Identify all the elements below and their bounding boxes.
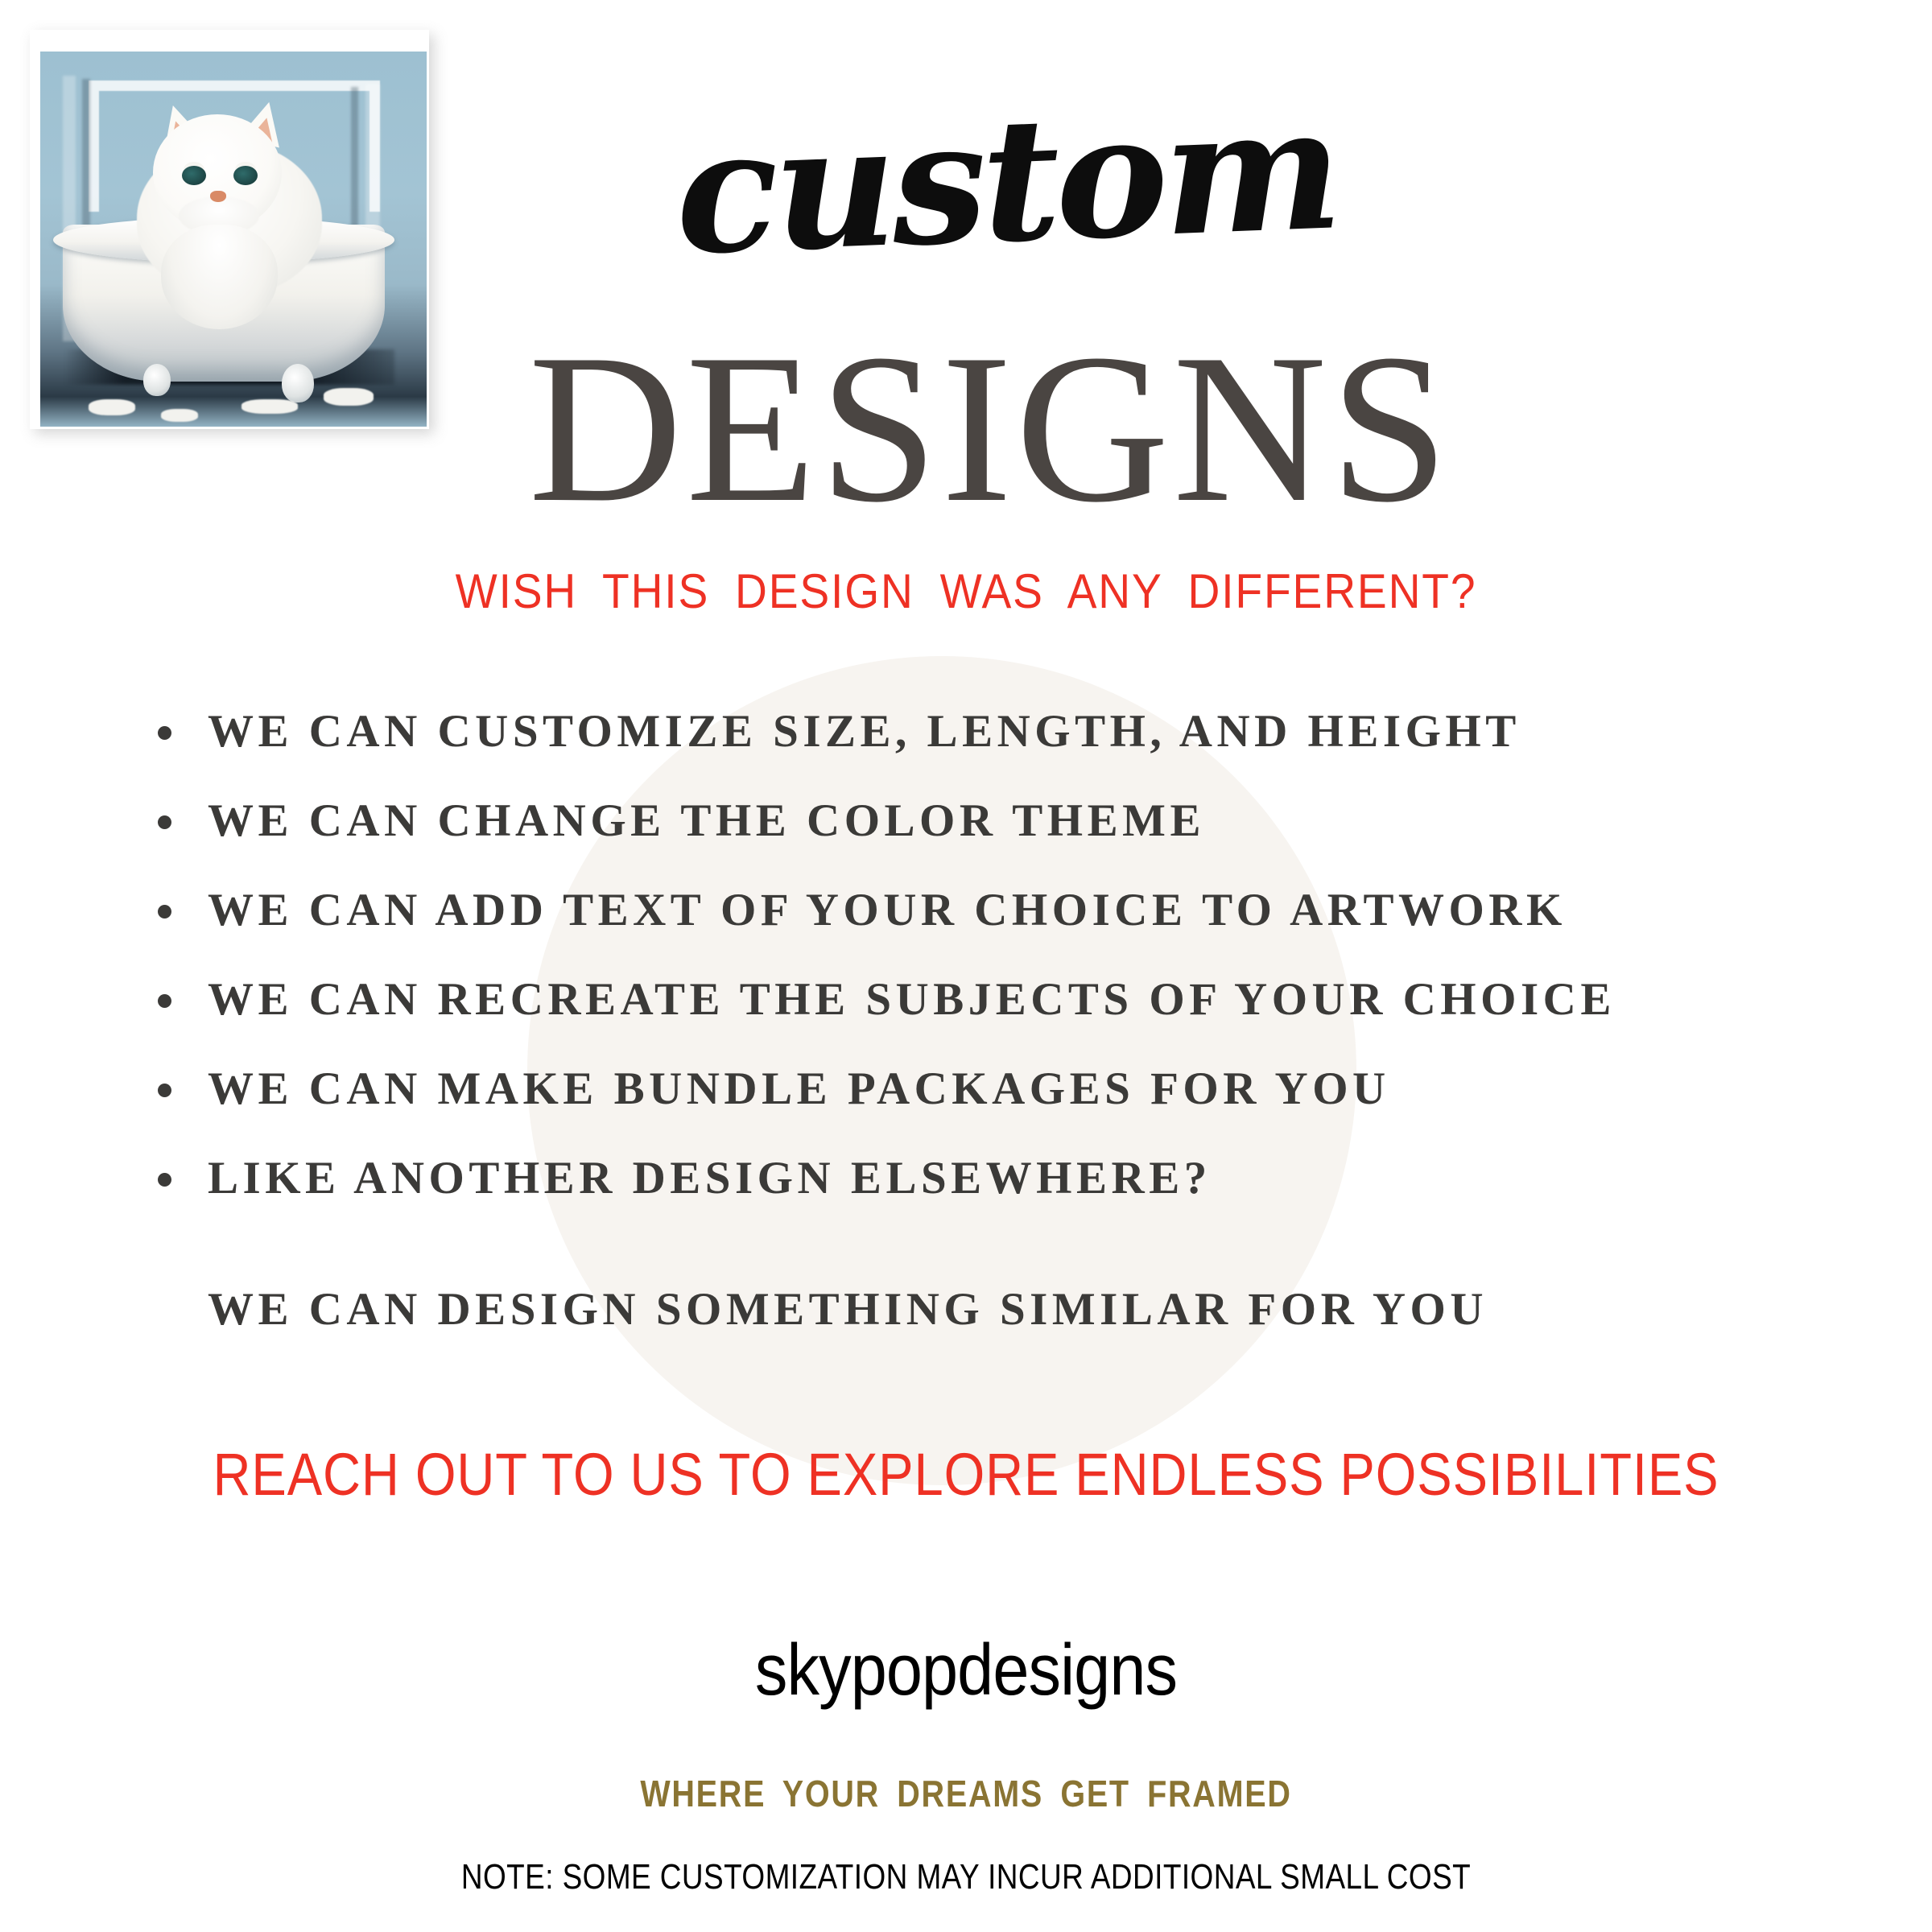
list-item-label: WE CAN CHANGE THE COLOR THEME bbox=[208, 795, 1205, 846]
list-item-label: LIKE ANOTHER DESIGN ELSEWHERE? bbox=[208, 1153, 1212, 1203]
bullet-dot-icon bbox=[158, 1173, 171, 1187]
brand-logo: skypopdesigns bbox=[97, 1634, 1835, 1707]
list-item-label: WE CAN MAKE BUNDLE PACKAGES FOR YOU bbox=[208, 1063, 1390, 1114]
list-item: WE CAN CUSTOMIZE SIZE, LENGTH, AND HEIGH… bbox=[153, 708, 1819, 754]
list-item: WE CAN RECREATE THE SUBJECTS OF YOUR CHO… bbox=[153, 976, 1819, 1022]
bullet-dot-icon bbox=[158, 994, 171, 1008]
custom-designs-poster: custom DESIGNS WISH THIS DESIGN WAS ANY … bbox=[0, 0, 1932, 1932]
paint-fleck bbox=[242, 399, 298, 414]
list-item-label: WE CAN CUSTOMIZE SIZE, LENGTH, AND HEIGH… bbox=[208, 706, 1521, 757]
cat-eye-right bbox=[233, 166, 258, 185]
list-item-label: WE CAN ADD TEXT OF YOUR CHOICE TO ARTWOR… bbox=[208, 885, 1567, 935]
paint-fleck bbox=[161, 409, 198, 422]
bathtub-foot bbox=[143, 364, 171, 396]
call-to-action[interactable]: REACH OUT TO US TO EXPLORE ENDLESS POSSI… bbox=[116, 1445, 1816, 1505]
footer-note: NOTE: SOME CUSTOMIZATION MAY INCUR ADDIT… bbox=[155, 1860, 1777, 1895]
brand-tagline: WHERE YOUR DREAMS GET FRAMED bbox=[135, 1775, 1797, 1812]
cat-eye-left bbox=[182, 166, 206, 185]
list-item: WE CAN CHANGE THE COLOR THEME bbox=[153, 798, 1819, 844]
script-headline: custom bbox=[480, 76, 1532, 286]
list-item-label: WE CAN RECREATE THE SUBJECTS OF YOUR CHO… bbox=[208, 974, 1616, 1025]
page-title: DESIGNS bbox=[306, 322, 1674, 535]
subheadline: WISH THIS DESIGN WAS ANY DIFFERENT? bbox=[77, 568, 1855, 616]
paint-fleck bbox=[89, 399, 135, 415]
cat-chest-fur bbox=[161, 225, 278, 329]
bullet-dot-icon bbox=[158, 815, 171, 829]
list-item: WE CAN ADD TEXT OF YOUR CHOICE TO ARTWOR… bbox=[153, 887, 1819, 933]
bullet-dot-icon bbox=[158, 1084, 171, 1097]
benefits-list: WE CAN CUSTOMIZE SIZE, LENGTH, AND HEIGH… bbox=[153, 708, 1819, 1245]
benefits-continuation-line: WE CAN DESIGN SOMETHING SIMILAR FOR YOU bbox=[208, 1286, 1488, 1332]
list-item: LIKE ANOTHER DESIGN ELSEWHERE? bbox=[153, 1155, 1819, 1201]
bullet-dot-icon bbox=[158, 726, 171, 740]
list-item: WE CAN MAKE BUNDLE PACKAGES FOR YOU bbox=[153, 1066, 1819, 1112]
cat-nose bbox=[210, 191, 226, 202]
bullet-dot-icon bbox=[158, 905, 171, 919]
